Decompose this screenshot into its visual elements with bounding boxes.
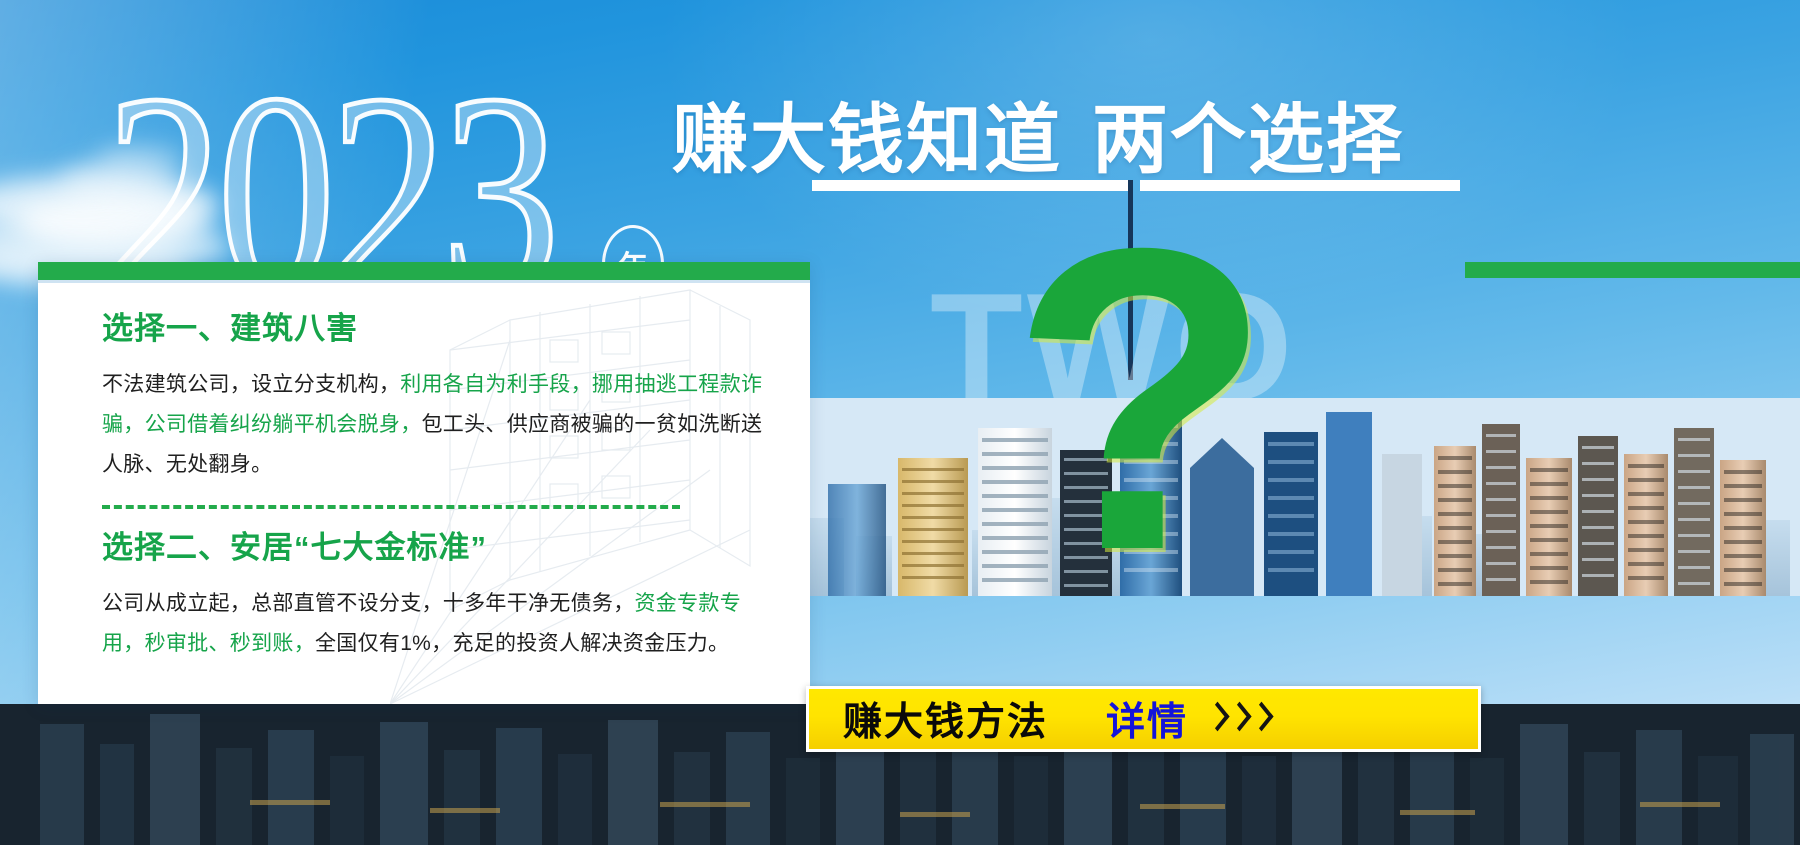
text-run: 公司从成立起，总部直管不设分支，十多年干净无债务，	[102, 592, 635, 615]
content-card: 选择一、建筑八害 不法建筑公司，设立分支机构，利用各自为利手段，挪用抽逃工程款诈…	[38, 262, 810, 704]
headline-part-1: 赚大钱知道	[672, 98, 1062, 183]
text-run: 不法建筑公司，设立分支机构，	[102, 373, 400, 396]
cta-main-label: 赚大钱方法	[843, 691, 1048, 747]
text-run: 全国仅有1%，充足的投资人解决资金压力。	[315, 632, 729, 655]
section-2-title: 选择二、安居“七大金标准”	[102, 529, 782, 568]
section-1-text: 不法建筑公司，设立分支机构，利用各自为利手段，挪用抽逃工程款诈骗，公司借着纠纷躺…	[102, 365, 777, 485]
cityscape-illustration	[786, 398, 1800, 596]
question-mark-icon: ?	[1010, 185, 1273, 615]
section-2-text: 公司从成立起，总部直管不设分支，十多年干净无债务，资金专款专用，秒审批、秒到账，…	[102, 584, 777, 664]
poster-canvas: 2023 年 赚大钱知道两个选择 TWO CHOICES	[0, 0, 1800, 845]
right-green-accent-bar	[1465, 262, 1800, 278]
cta-detail-link[interactable]: 详情	[1106, 691, 1188, 747]
cityscape-photo	[786, 398, 1800, 596]
year-graphic: 2023 年	[105, 52, 725, 272]
section-divider	[102, 505, 680, 509]
chevron-right-icon	[1204, 704, 1270, 734]
card-top-accent-bar	[38, 262, 810, 280]
cta-banner[interactable]: 赚大钱方法 详情	[806, 686, 1481, 752]
section-1-title: 选择一、建筑八害	[102, 310, 782, 349]
card-content: 选择一、建筑八害 不法建筑公司，设立分支机构，利用各自为利手段，挪用抽逃工程款诈…	[102, 310, 782, 664]
